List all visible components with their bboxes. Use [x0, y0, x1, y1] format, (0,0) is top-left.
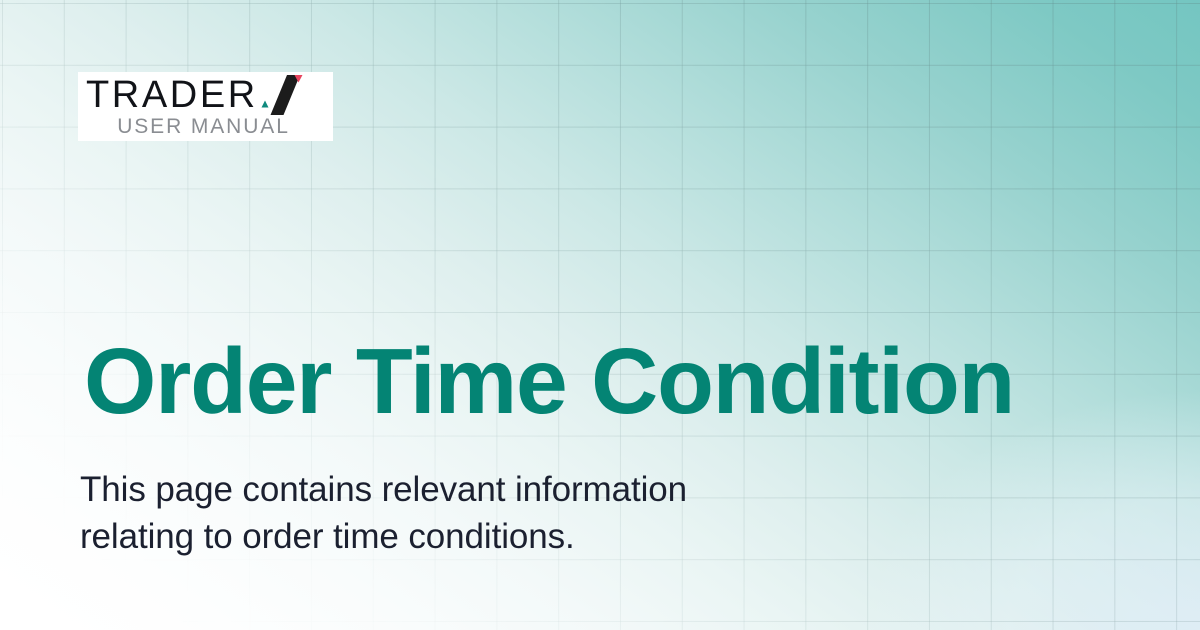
logo-subtext: USER MANUAL: [78, 116, 329, 137]
trader-x-mark-icon: [259, 73, 305, 117]
logo-lockup[interactable]: TRADER USER MANUAL: [78, 72, 333, 141]
page-subtitle: This page contains relevant information …: [80, 467, 687, 560]
page-subtitle-line: This page contains relevant information: [80, 467, 687, 514]
page-subtitle-line: relating to order time conditions.: [80, 514, 687, 561]
cover-banner: TRADER USER MANUAL Order Time Condition …: [0, 0, 1200, 630]
logo-wordmark-row: TRADER: [86, 73, 305, 117]
logo-wordmark-text: TRADER: [86, 76, 258, 114]
page-title: Order Time Condition: [84, 333, 1014, 430]
